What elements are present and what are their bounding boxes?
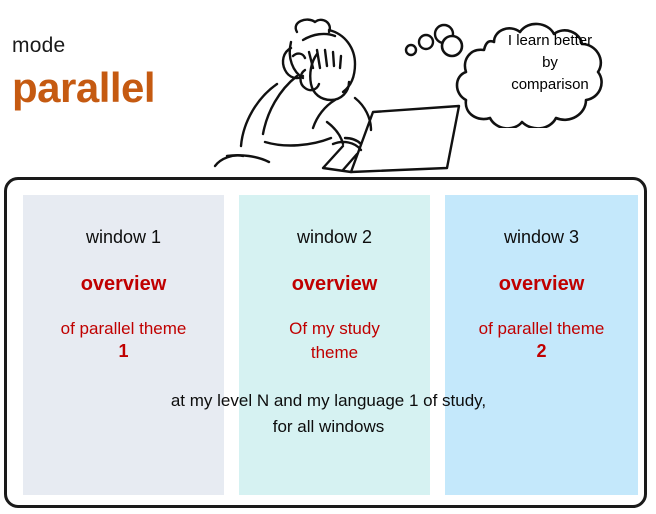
window-2-overview-heading: overview (239, 273, 430, 296)
header-area: mode parallel (0, 0, 656, 176)
window-2-title: window 2 (239, 227, 430, 248)
window-3-title: window 3 (445, 227, 638, 248)
window-1-title: window 1 (23, 227, 224, 248)
window-column-3[interactable]: window 3 overview of parallel theme 2 (445, 195, 638, 495)
mode-value: parallel (12, 64, 155, 112)
window-3-overview-heading: overview (445, 273, 638, 296)
person-studying-at-laptop-icon (205, 0, 465, 176)
window-1-theme-number: 1 (23, 341, 224, 362)
window-column-2[interactable]: window 2 overview Of my study theme (239, 195, 430, 495)
window-2-subtitle: Of my study theme (239, 317, 430, 365)
window-1-overview-heading: overview (23, 273, 224, 296)
window-column-1[interactable]: window 1 overview of parallel theme 1 (23, 195, 224, 495)
thought-bubble-text: I learn better by comparison (462, 30, 638, 96)
window-3-subtitle: of parallel theme (445, 317, 638, 341)
window-1-subtitle: of parallel theme (23, 317, 224, 341)
mode-label: mode (12, 34, 65, 58)
window-3-theme-number: 2 (445, 341, 638, 362)
parallel-windows-panel: window 1 overview of parallel theme 1 wi… (4, 177, 647, 508)
